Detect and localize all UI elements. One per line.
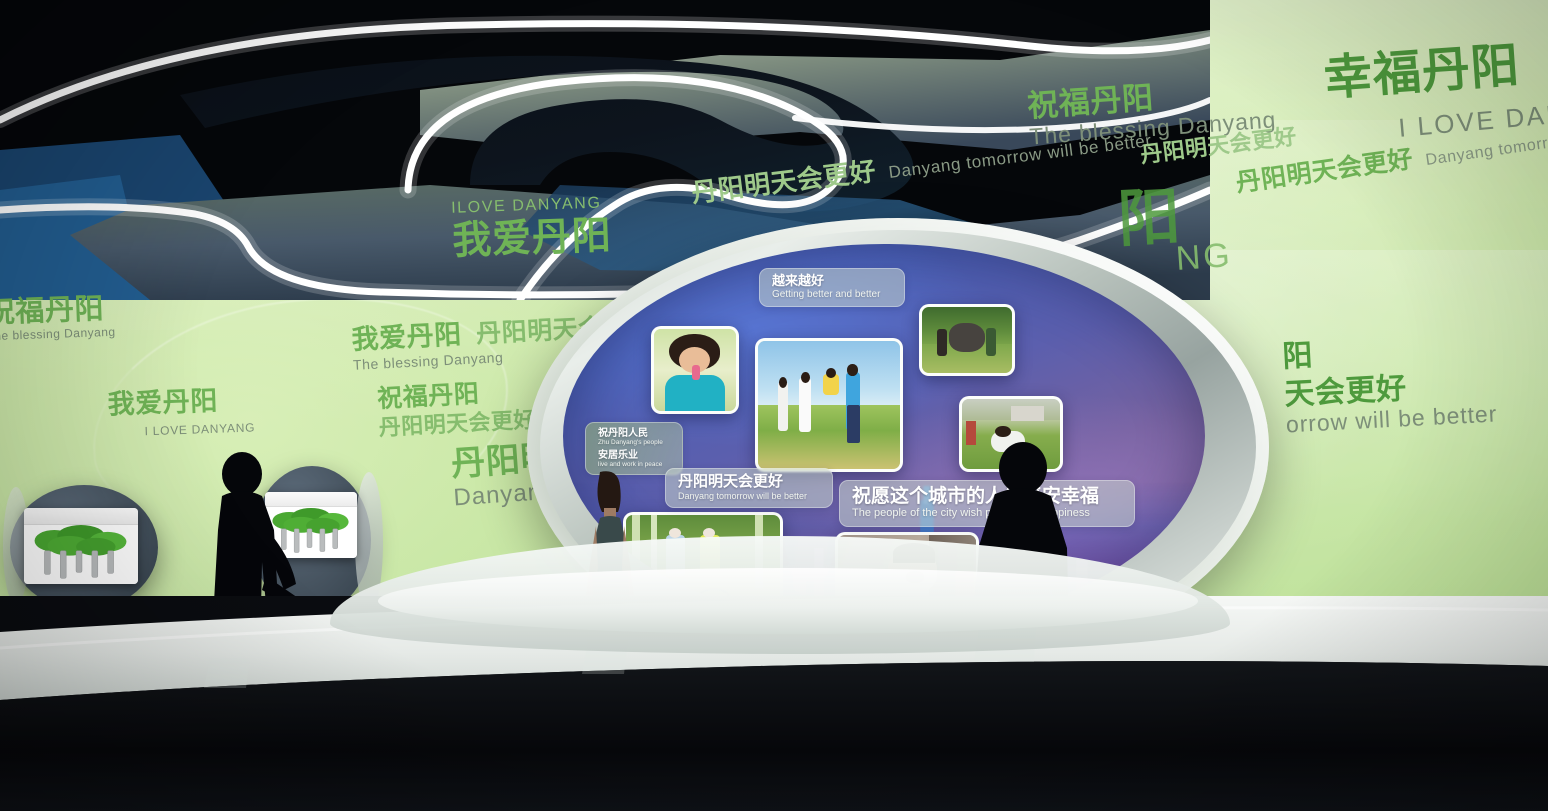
wall-text-block: 阳 天会更好 orrow will be better: [1282, 331, 1498, 437]
wall-text-block: 祝福丹阳 The blessing Danyang: [0, 294, 116, 344]
wish-photo[interactable]: [919, 304, 1015, 376]
wall-text-block: 阳: [1116, 184, 1183, 252]
wall-text-block: 祝福丹阳 丹阳明天会更好: [377, 378, 537, 439]
wish-photo[interactable]: [755, 338, 903, 472]
wish-photo[interactable]: [651, 326, 739, 414]
kiosk-left[interactable]: [10, 485, 158, 610]
wish-bubble[interactable]: 越来越好 Getting better and better: [759, 268, 905, 307]
oval-base-highlight: [378, 568, 1198, 634]
wish-bubble[interactable]: 丹阳明天会更好 Danyang tomorrow will be better: [665, 468, 833, 508]
wall-text-block: NG: [1175, 238, 1234, 278]
wall-text-block: 我爱丹阳 I LOVE DANYANG: [107, 385, 255, 439]
exhibition-hall-render: 祝福丹阳 The blessing Danyang ILOVE DANYANG …: [0, 0, 1548, 811]
wall-text-block: ILOVE DANYANG 我爱丹阳: [451, 195, 612, 262]
kiosk-screen[interactable]: [24, 508, 138, 584]
